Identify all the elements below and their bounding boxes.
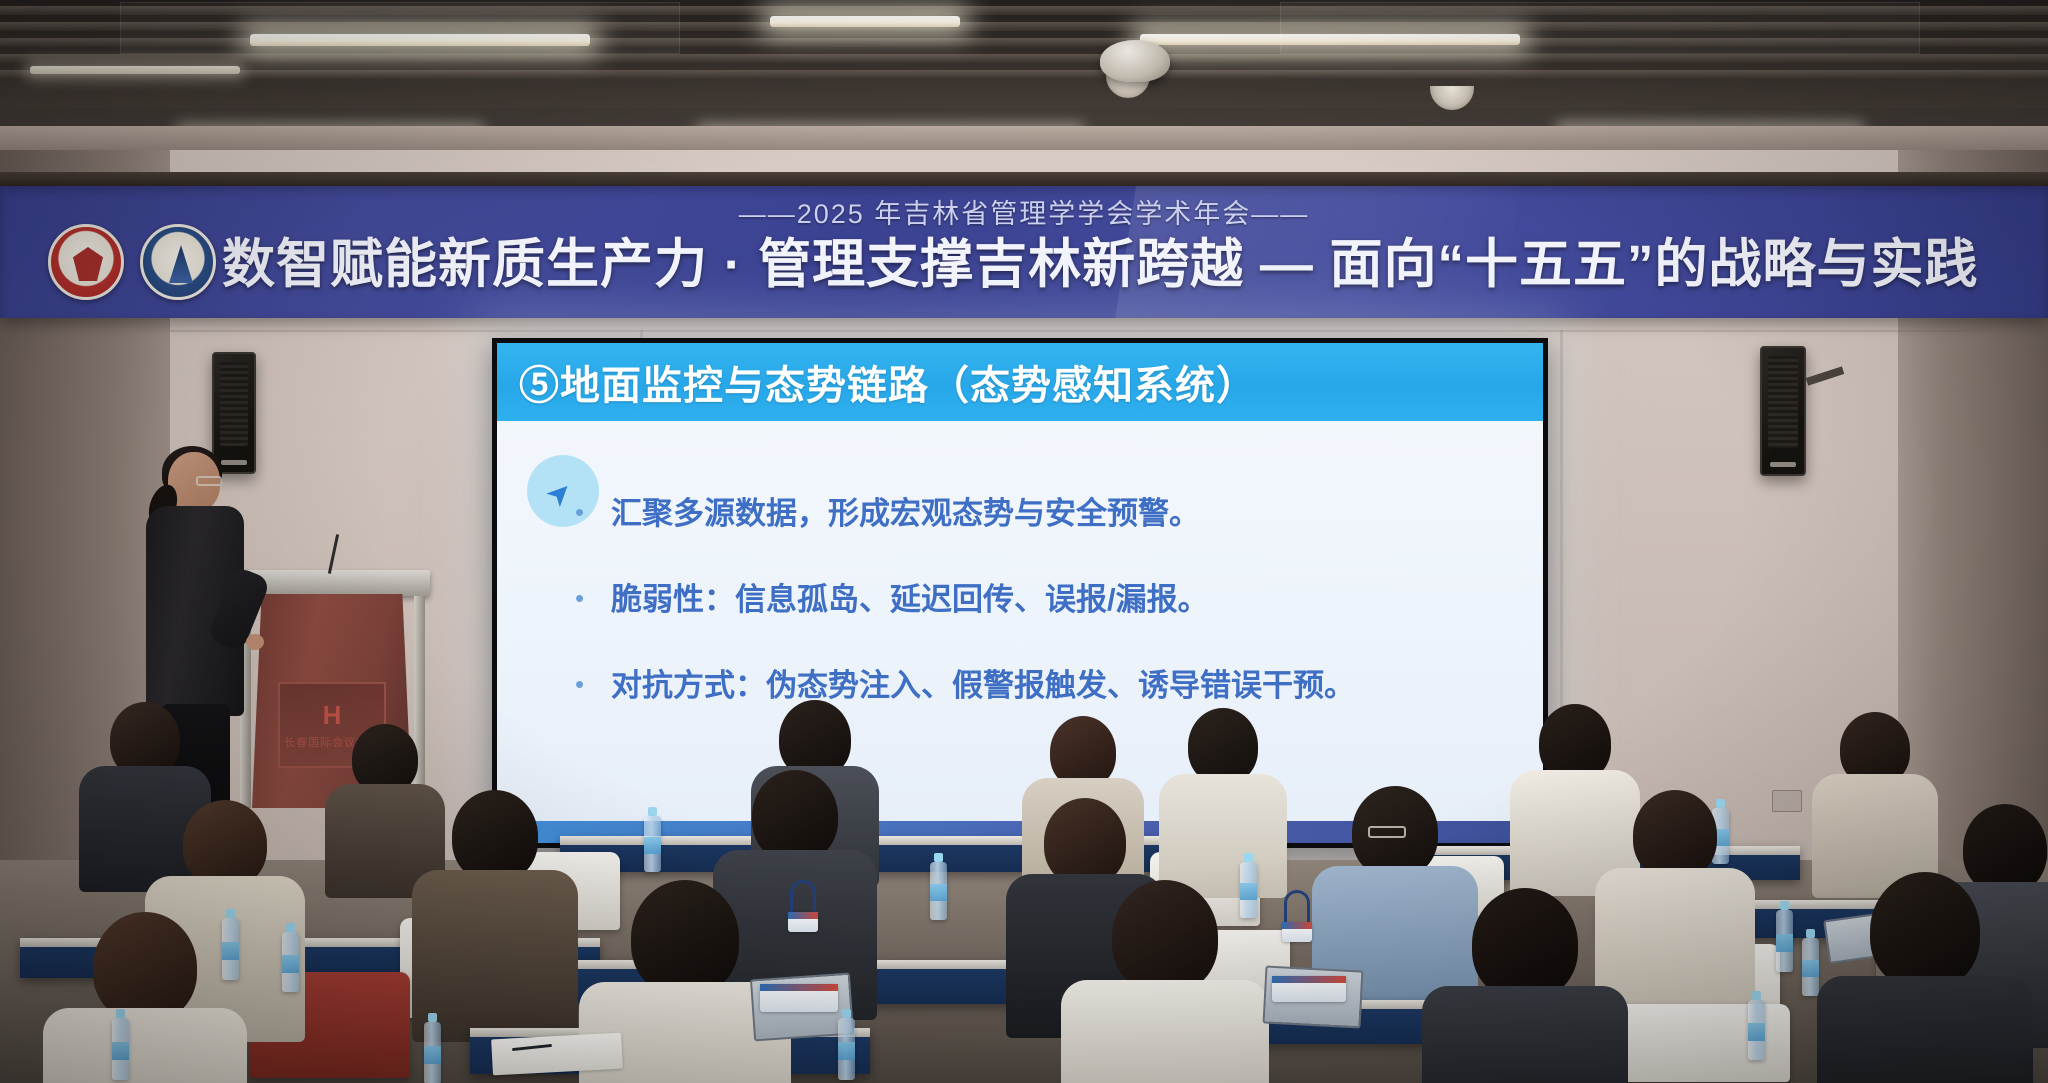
water-bottle (424, 1022, 441, 1083)
slide-header-bar: ⑤地面监控与态势链路（态势感知系统） (497, 343, 1543, 421)
glasses-icon (196, 476, 222, 486)
slide-bullet-item: • 汇聚多源数据，形成宏观态势与安全预警。 (575, 495, 1505, 533)
audience-member (1080, 880, 1250, 1083)
water-bottle (644, 816, 661, 872)
audience-member (1168, 708, 1278, 886)
slide-bullet-item: • 对抗方式：伪态势注入、假警报触发、诱导错误干预。 (575, 667, 1505, 705)
water-bottle (282, 932, 299, 992)
bullet-text: 脆弱性：信息孤岛、延迟回传、误报/漏报。 (611, 581, 1209, 619)
banner-title: 数智赋能新质生产力 · 管理支撑吉林新跨越 — 面向“十五五”的战略与实践 (222, 222, 2032, 298)
conference-room-photo: ——2025 年吉林省管理学学会学术年会—— 数智赋能新质生产力 · 管理支撑吉… (0, 0, 2048, 1083)
bullet-text: 对抗方式：伪态势注入、假警报触发、诱导错误干预。 (611, 667, 1355, 705)
audience-member (430, 790, 560, 1032)
bullet-text: 汇聚多源数据，形成宏观态势与安全预警。 (611, 495, 1200, 533)
ceiling-projector (1100, 40, 1170, 82)
water-bottle (112, 1018, 129, 1080)
lanyard (1284, 890, 1310, 924)
ceiling (0, 0, 2048, 172)
ceiling-light-tube (770, 16, 960, 27)
bullet-marker: • (575, 667, 611, 701)
notepad (491, 1033, 623, 1076)
water-bottle (1748, 1000, 1765, 1060)
projection-screen: ⑤地面监控与态势链路（态势感知系统） ➤ • 汇聚多源数据，形成宏观态势与安全预… (492, 338, 1548, 848)
audience-member (1840, 872, 2010, 1083)
water-bottle (1802, 938, 1819, 996)
ceiling-light-tube (250, 34, 590, 46)
presentation-slide: ⑤地面监控与态势链路（态势感知系统） ➤ • 汇聚多源数据，形成宏观态势与安全预… (497, 343, 1543, 843)
name-badge (760, 984, 838, 1012)
bullet-marker: • (575, 495, 611, 529)
ceiling-light-tube (1140, 34, 1520, 45)
wall-speaker-right (1760, 346, 1806, 476)
audience-member (1440, 888, 1610, 1083)
water-bottle (838, 1018, 855, 1080)
lanyard (790, 880, 816, 914)
audience-member (600, 880, 770, 1083)
audience-member (330, 724, 440, 890)
ceiling-light-tube (30, 66, 240, 74)
bullet-marker: • (575, 581, 611, 615)
slide-header-title: ⑤地面监控与态势链路（态势感知系统） (497, 353, 1257, 411)
name-badge (1272, 976, 1346, 1002)
slide-bullet-item: • 脆弱性：信息孤岛、延迟回传、误报/漏报。 (575, 581, 1505, 619)
university-emblem-blue-icon (140, 224, 216, 300)
water-bottle (1776, 910, 1793, 972)
water-bottle (930, 862, 947, 920)
slide-bullet-list: • 汇聚多源数据，形成宏观态势与安全预警。 • 脆弱性：信息孤岛、延迟回传、误报… (575, 495, 1505, 753)
conference-banner: ——2025 年吉林省管理学学会学术年会—— 数智赋能新质生产力 · 管理支撑吉… (0, 186, 2048, 318)
name-badge (788, 912, 818, 932)
audience-member (1820, 712, 1930, 888)
audience-member (60, 912, 230, 1083)
audience-member (1610, 790, 1740, 1026)
university-emblem-red-icon (48, 224, 124, 300)
name-badge (1282, 922, 1312, 942)
wall-socket (1772, 790, 1802, 812)
